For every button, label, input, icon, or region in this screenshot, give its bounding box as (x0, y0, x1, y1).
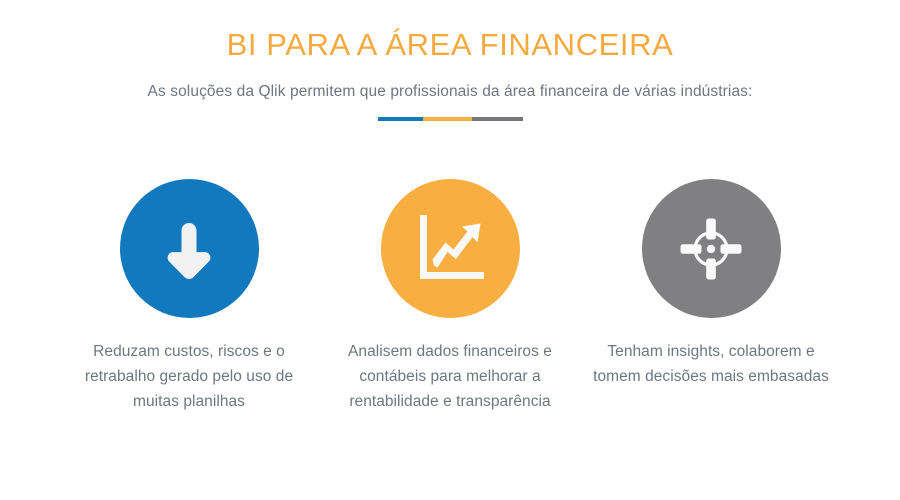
down-arrow-icon (153, 213, 225, 285)
divider-segment-blue (378, 117, 423, 121)
benefit-card-reduce-costs: Reduzam custos, riscos e o retrabalho ge… (59, 179, 320, 414)
benefit-card-caption: Tenham insights, colaborem e tomem decis… (591, 318, 831, 389)
benefit-card-insights: Tenham insights, colaborem e tomem decis… (581, 179, 842, 414)
infographic-page: BI PARA A ÁREA FINANCEIRA As soluções da… (0, 0, 900, 500)
benefit-card-analyze-data: Analisem dados financeiros e contábeis p… (320, 179, 581, 414)
icon-circle-gray (642, 179, 781, 318)
benefit-card-caption: Analisem dados financeiros e contábeis p… (330, 318, 570, 414)
page-subtitle: As soluções da Qlik permitem que profiss… (0, 62, 900, 102)
page-title: BI PARA A ÁREA FINANCEIRA (0, 0, 900, 62)
benefit-cards-row: Reduzam custos, riscos e o retrabalho ge… (0, 179, 900, 414)
icon-circle-blue (120, 179, 259, 318)
divider-segment-orange (423, 117, 472, 121)
crosshair-target-icon (679, 217, 743, 281)
tricolor-divider (378, 117, 523, 121)
growth-chart-icon (412, 211, 488, 287)
divider-segment-gray (472, 117, 523, 121)
benefit-card-caption: Reduzam custos, riscos e o retrabalho ge… (82, 318, 297, 414)
icon-circle-orange (381, 179, 520, 318)
header: BI PARA A ÁREA FINANCEIRA As soluções da… (0, 0, 900, 121)
